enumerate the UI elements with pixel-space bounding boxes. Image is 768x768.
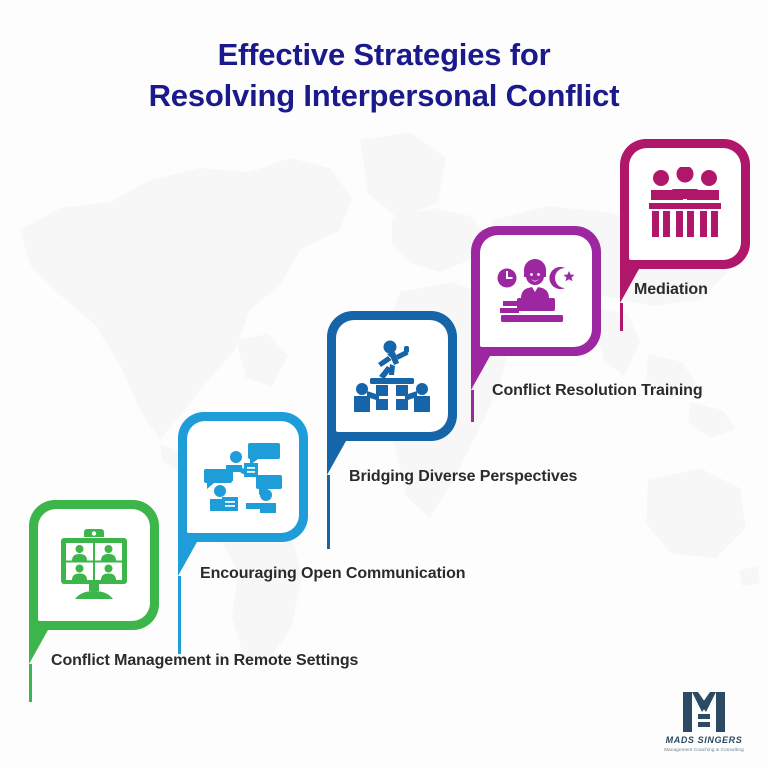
step-bubble[interactable] — [471, 226, 601, 356]
step-connector — [620, 303, 623, 331]
letter-m-logo-mark — [681, 692, 727, 732]
step-label: Encouraging Open Communication — [200, 565, 465, 583]
logo-tagline: Management Coaching & Consulting — [652, 747, 756, 752]
step-label: Conflict Resolution Training — [492, 382, 703, 400]
step-bubble[interactable] — [620, 139, 750, 269]
bubble-tail — [178, 542, 197, 576]
step-icon-container — [336, 320, 448, 432]
trainer-at-desk-clock-moon-icon — [497, 256, 575, 326]
step-label: Bridging Diverse Perspectives — [349, 468, 577, 486]
bubble-tail — [327, 441, 346, 475]
person-on-platform-support-icon — [354, 339, 430, 413]
video-conference-icon — [57, 529, 131, 601]
infographic-canvas: Effective Strategies for Resolving Inter… — [0, 0, 768, 768]
step-label: Conflict Management in Remote Settings — [51, 652, 358, 670]
step-bubble[interactable] — [29, 500, 159, 630]
page-title: Effective Strategies for Resolving Inter… — [0, 34, 768, 116]
step-connector — [471, 390, 474, 422]
title-line-1: Effective Strategies for — [0, 34, 768, 75]
people-speech-bubbles-icon — [204, 441, 282, 513]
step-bubble[interactable] — [178, 412, 308, 542]
step-connector — [178, 576, 181, 654]
step-bubble[interactable] — [327, 311, 457, 441]
bubble-tail — [471, 356, 490, 390]
step-icon-container — [480, 235, 592, 347]
brand-logo: MADS SINGERS Management Coaching & Consu… — [652, 692, 756, 752]
three-people-mediation-icon — [647, 167, 723, 241]
step-connector — [29, 664, 32, 702]
step-icon-container — [187, 421, 299, 533]
step-icon-container — [38, 509, 150, 621]
step-connector — [327, 475, 330, 549]
step-icon-container — [629, 148, 741, 260]
step-label: Mediation — [634, 281, 708, 299]
title-line-2: Resolving Interpersonal Conflict — [0, 75, 768, 116]
logo-brand-name: MADS SINGERS — [652, 735, 756, 745]
bubble-tail — [29, 630, 48, 664]
